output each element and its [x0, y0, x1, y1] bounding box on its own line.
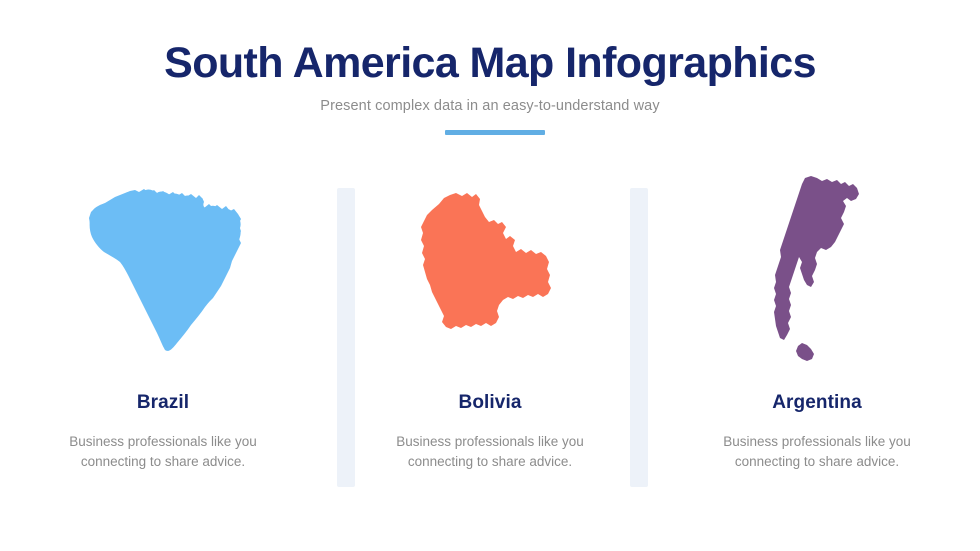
- bolivia-map-container[interactable]: [327, 170, 653, 370]
- title-underline-accent: [445, 130, 545, 135]
- argentina-map-container[interactable]: [654, 170, 980, 370]
- country-description-argentina: Business professionals like you connecti…: [702, 432, 932, 471]
- country-column-bolivia[interactable]: Bolivia Business professionals like you …: [327, 170, 653, 471]
- page-title: South America Map Infographics: [0, 40, 980, 86]
- page-subtitle: Present complex data in an easy-to-under…: [0, 98, 980, 114]
- country-label-bolivia: Bolivia: [459, 392, 522, 414]
- country-label-brazil: Brazil: [137, 392, 189, 414]
- country-description-brazil: Business professionals like you connecti…: [48, 432, 278, 471]
- bolivia-map-icon: [419, 191, 561, 349]
- country-columns: Brazil Business professionals like you c…: [0, 170, 980, 500]
- country-column-brazil[interactable]: Brazil Business professionals like you c…: [0, 170, 326, 471]
- argentina-map-icon: [771, 175, 863, 365]
- infographic-slide: South America Map Infographics Present c…: [0, 0, 980, 551]
- slide-header: South America Map Infographics Present c…: [0, 40, 980, 114]
- country-label-argentina: Argentina: [772, 392, 862, 414]
- country-description-bolivia: Business professionals like you connecti…: [375, 432, 605, 471]
- brazil-map-icon: [78, 185, 248, 355]
- country-column-argentina[interactable]: Argentina Business professionals like yo…: [654, 170, 980, 471]
- brazil-map-container[interactable]: [0, 170, 326, 370]
